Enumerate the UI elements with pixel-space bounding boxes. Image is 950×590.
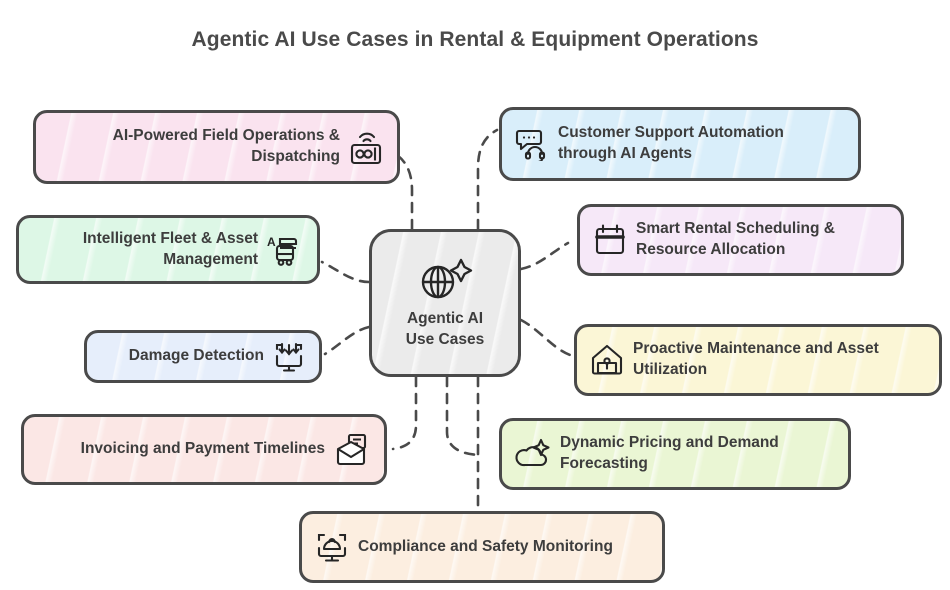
node-label: Dynamic Pricing and Demand Forecasting	[560, 433, 832, 474]
node-label: Smart Rental Scheduling & Resource Alloc…	[636, 219, 885, 260]
node-label: AI-Powered Field Operations & Dispatchin…	[52, 126, 340, 167]
cloud-sparkle-icon	[515, 438, 551, 470]
monitor-damage-icon	[273, 340, 305, 373]
bus-fleet-icon: A	[267, 232, 303, 268]
node-label: Proactive Maintenance and Asset Utilizat…	[633, 339, 923, 380]
node-proactive-maintenance-and-asset-utilization[interactable]: Proactive Maintenance and Asset Utilizat…	[574, 324, 942, 396]
chat-headset-icon	[515, 127, 549, 161]
connector-to-fleet-management	[322, 262, 369, 282]
page-title: Agentic AI Use Cases in Rental & Equipme…	[0, 28, 950, 52]
calendar-icon	[593, 223, 627, 257]
connector-to-proactive-maintenance	[521, 320, 570, 355]
node-label: Customer Support Automation through AI A…	[558, 123, 842, 164]
center-node[interactable]: Agentic AI Use Cases	[369, 229, 521, 377]
node-damage-detection[interactable]: Damage Detection	[84, 330, 322, 383]
node-dynamic-pricing-and-demand-forecasting[interactable]: Dynamic Pricing and Demand Forecasting	[499, 418, 851, 490]
svg-text:A: A	[267, 235, 276, 249]
node-compliance-and-safety-monitoring[interactable]: Compliance and Safety Monitoring	[299, 511, 665, 583]
radio-dispatch-icon	[349, 128, 383, 166]
connector-to-customer-support	[478, 130, 497, 229]
node-ai-powered-field-operations-dispatching[interactable]: AI-Powered Field Operations & Dispatchin…	[33, 110, 400, 184]
invoice-envelope-icon	[334, 433, 370, 467]
node-label: Invoicing and Payment Timelines	[81, 439, 325, 460]
center-node-sheen	[372, 232, 518, 374]
node-invoicing-and-payment-timelines[interactable]: Invoicing and Payment Timelines	[21, 414, 387, 485]
node-customer-support-automation-through-ai-agents[interactable]: Customer Support Automation through AI A…	[499, 107, 861, 181]
connector-to-smart-rental	[521, 243, 568, 269]
connector-to-damage-detection	[325, 327, 369, 354]
globe-sparkle-icon	[414, 256, 476, 302]
node-label: Compliance and Safety Monitoring	[358, 537, 613, 558]
diagram-canvas: Agentic AI Use Cases in Rental & Equipme…	[0, 0, 950, 590]
center-node-label: Agentic AI Use Cases	[406, 309, 484, 349]
node-label: Intelligent Fleet & Asset Management	[35, 229, 258, 270]
connector-to-invoicing	[393, 377, 416, 449]
monitor-hardhat-icon	[315, 530, 349, 564]
node-smart-rental-scheduling-resource-allocation[interactable]: Smart Rental Scheduling & Resource Alloc…	[577, 204, 904, 276]
node-intelligent-fleet-asset-management[interactable]: Intelligent Fleet & Asset Management A	[16, 215, 320, 284]
node-label: Damage Detection	[129, 346, 264, 367]
connector-to-dynamic-pricing	[447, 377, 482, 455]
house-wrench-icon	[590, 343, 624, 377]
